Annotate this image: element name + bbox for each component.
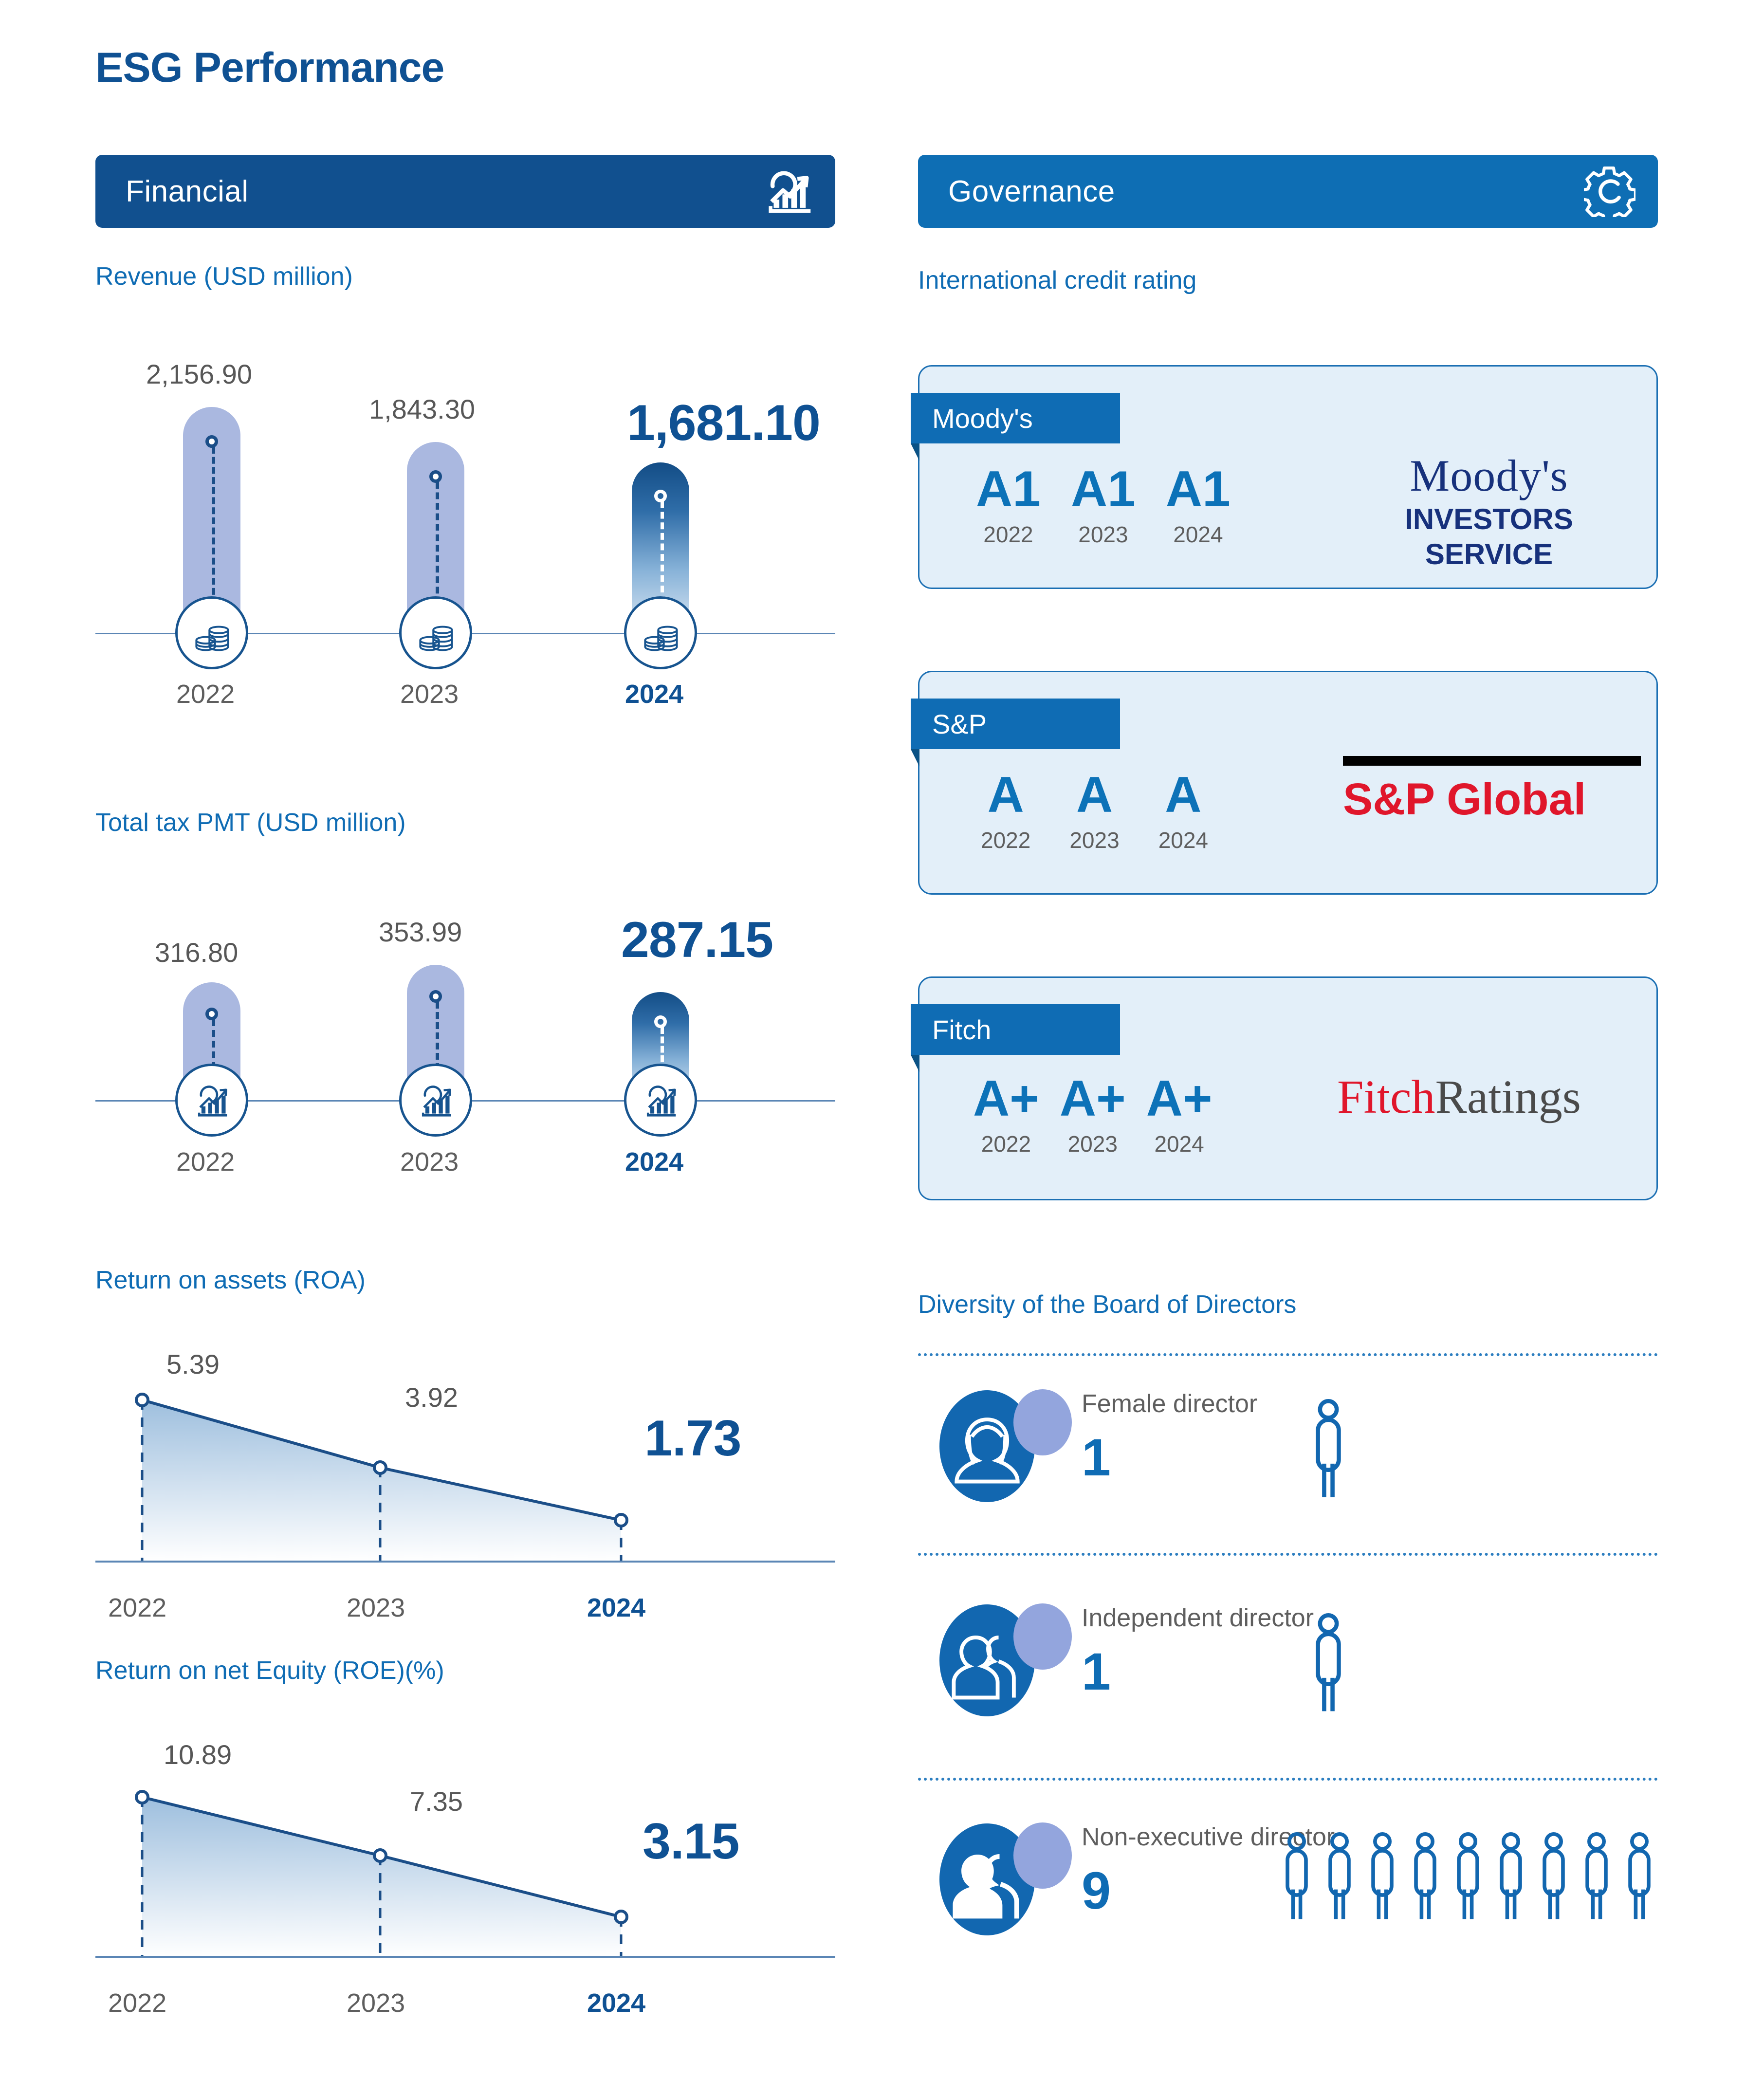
divider [918,1353,1658,1356]
rating-card-fitch[interactable]: Fitch A+ 2022 A+ 2023 A+ 2024 FitchRatin… [918,976,1658,1200]
bar-knob [654,490,667,502]
diversity-count: 1 [1082,1645,1111,1698]
rating-tab-sp: S&P [911,699,1120,749]
fitch-ratings-logo: FitchRatings [1337,1073,1649,1121]
bar-knob [429,990,442,1003]
diversity-title: Diversity of the Board of Directors [918,1290,1296,1319]
rating-year: 2023 [1060,1131,1126,1157]
people-pictogram [1278,1832,1658,1923]
bar-knob [429,470,442,483]
rating-grade: A+ [973,1073,1039,1124]
rating-col: A 2022 [981,770,1030,853]
diversity-count: 9 [1082,1864,1111,1917]
rating-col: A1 2023 [1071,464,1136,548]
rating-year: 2024 [1146,1131,1213,1157]
rating-year: 2022 [981,827,1030,853]
person-icon [1578,1832,1615,1923]
roa-area-plot [95,1382,835,1587]
credit-rating-title: International credit rating [918,266,1196,295]
people-pictogram [1307,1613,1349,1715]
divider [918,1778,1658,1781]
person-icon [1535,1832,1572,1923]
chart-total-tax: 316.80 2022 353.99 2023 [95,857,845,1197]
people-pictogram [1307,1399,1349,1501]
rating-tab-label: S&P [932,708,987,740]
gear-icon [1584,166,1635,217]
axis-label-2022: 2022 [176,1147,235,1177]
bar-value-label: 1,843.30 [369,393,475,425]
coins-icon [175,596,248,669]
rating-col: A 2024 [1158,770,1208,853]
chart-title-revenue: Revenue (USD million) [95,262,353,291]
fitch-logo-primary: Fitch [1337,1071,1435,1123]
chart-roa: 5.39 3.92 1.73 2022 2023 2024 [95,1324,845,1597]
axis-label-2023: 2023 [400,679,459,709]
accent-dot [1013,1822,1072,1889]
person-icon [1307,1399,1349,1501]
rating-tab-label: Moody's [932,403,1033,434]
rating-grade: A+ [1146,1073,1213,1124]
rating-grade: A1 [1166,464,1231,515]
chart-growth-icon [399,1064,472,1137]
rating-grade: A [1158,770,1208,820]
section-label-governance: Governance [948,174,1115,209]
moodys-logo-secondary: INVESTORS SERVICE [1338,502,1640,572]
person-icon [1321,1832,1358,1923]
rating-grade: A [981,770,1030,820]
moodys-logo: Moody's INVESTORS SERVICE [1338,453,1640,572]
diversity-row-independent-director: Independent director 1 [918,1592,1658,1738]
rating-grid-fitch: A+ 2022 A+ 2023 A+ 2024 [973,1073,1213,1157]
person-icon [1364,1832,1401,1923]
person-icon [1278,1832,1315,1923]
accent-dot [1013,1389,1072,1455]
rating-tab-moodys: Moody's [911,393,1120,443]
person-icon [1450,1832,1487,1923]
rating-grade: A1 [976,464,1041,515]
rating-year: 2023 [1071,521,1136,548]
person-icon [1492,1832,1529,1923]
axis-label-2023: 2023 [347,1988,405,2018]
section-header-governance: Governance [918,155,1658,228]
divider [918,1553,1658,1556]
diversity-count: 1 [1082,1431,1111,1484]
axis-label-2023: 2023 [347,1593,405,1623]
section-header-financial: Financial [95,155,835,228]
axis-label-2022: 2022 [108,1988,166,2018]
chart-growth-icon [175,1064,248,1137]
bar-value-label: 2,156.90 [146,358,252,390]
axis-label-2024: 2024 [625,1147,683,1177]
bar-value-label: 316.80 [155,937,238,968]
person-icon [1621,1832,1658,1923]
accent-dot [1013,1603,1072,1670]
moodys-logo-primary: Moody's [1338,453,1640,498]
axis-label-2024: 2024 [625,679,683,709]
axis-label-2023: 2023 [400,1147,459,1177]
rating-year: 2024 [1166,521,1231,548]
sp-global-logo: S&P Global [1343,756,1645,826]
sp-logo-primary: S&P Global [1343,773,1645,826]
axis-label-2024: 2024 [587,1988,645,2018]
diversity-label: Female director [1082,1389,1257,1418]
chart-roe: 10.89 7.35 3.15 2022 2023 2024 [95,1717,845,1990]
sp-logo-bar [1343,756,1641,766]
rating-year: 2024 [1158,827,1208,853]
bar-value-highlight: 287.15 [621,911,773,969]
diversity-row-female-director: Female director 1 [918,1378,1658,1524]
axis-label-2024: 2024 [587,1593,645,1623]
roe-area-plot [95,1776,835,1980]
bar-value-label: 353.99 [379,916,462,948]
axis-label-2022: 2022 [108,1593,166,1623]
diversity-label: Independent director [1082,1603,1314,1633]
bar-value-highlight: 1,681.10 [627,394,820,452]
chart-growth-icon [761,166,813,217]
axis-label-2022: 2022 [176,679,235,709]
rating-col: A1 2024 [1166,464,1231,548]
person-icon [1407,1832,1444,1923]
diversity-row-non-executive-director: Non-executive director 9 [918,1811,1658,1957]
page-title: ESG Performance [95,44,444,92]
rating-col: A+ 2022 [973,1073,1039,1157]
rating-grade: A [1069,770,1119,820]
rating-year: 2022 [973,1131,1039,1157]
person-icon [1307,1613,1349,1715]
chart-title-roa: Return on assets (ROA) [95,1266,366,1295]
section-label-financial: Financial [126,174,249,209]
rating-grid-moodys: A1 2022 A1 2023 A1 2024 [976,464,1231,548]
chart-title-roe: Return on net Equity (ROE)(%) [95,1656,444,1685]
rating-tab-fitch: Fitch [911,1004,1120,1055]
rating-grade: A1 [1071,464,1136,515]
rating-col: A+ 2023 [1060,1073,1126,1157]
rating-grid-sp: A 2022 A 2023 A 2024 [981,770,1208,853]
rating-col: A+ 2024 [1146,1073,1213,1157]
bar-knob [205,1008,218,1020]
bar-knob [205,435,218,448]
rating-col: A1 2022 [976,464,1041,548]
coins-icon [624,596,697,669]
point-value-label: 10.89 [164,1739,232,1770]
chart-growth-icon [624,1064,697,1137]
bar-knob [654,1015,667,1028]
fitch-logo-secondary: Ratings [1435,1071,1580,1123]
rating-grade: A+ [1060,1073,1126,1124]
rating-tab-label: Fitch [932,1014,991,1046]
rating-card-moodys[interactable]: Moody's A1 2022 A1 2023 A1 2024 Moody's … [918,365,1658,589]
rating-card-sp[interactable]: S&P A 2022 A 2023 A 2024 S&P Global [918,671,1658,895]
rating-year: 2022 [976,521,1041,548]
chart-title-total-tax: Total tax PMT (USD million) [95,808,406,837]
chart-revenue: 2,156.90 2022 1,843.30 2023 [95,312,845,681]
coins-icon [399,596,472,669]
point-value-label: 5.39 [166,1348,220,1380]
rating-col: A 2023 [1069,770,1119,853]
rating-year: 2023 [1069,827,1119,853]
